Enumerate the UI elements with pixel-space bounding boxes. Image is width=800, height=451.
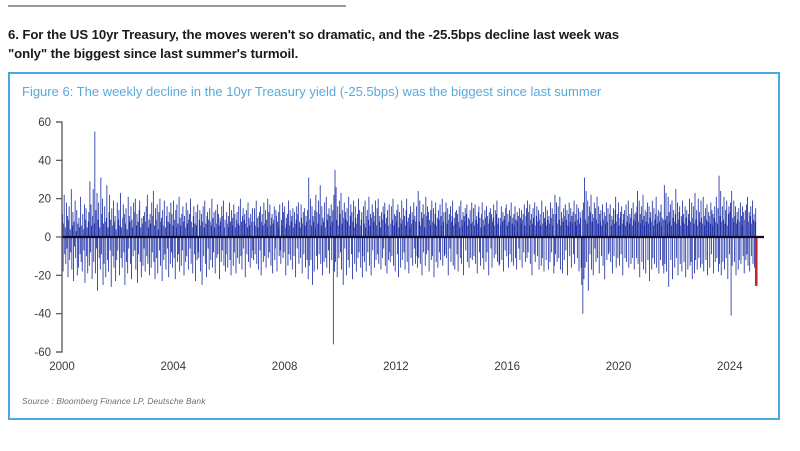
bar [234,237,235,252]
bar [400,237,401,268]
x-axis-tick-label: 2008 [272,361,298,373]
bar [410,206,411,237]
bar [654,237,655,264]
bar [458,237,459,272]
bar [668,237,669,287]
bar [105,222,106,237]
bar [380,227,381,237]
bar [418,237,419,258]
bar [486,237,487,262]
bar [702,237,703,264]
bar [685,237,686,277]
bar [569,237,570,256]
bar [724,237,725,270]
bar [96,237,97,249]
bar [622,224,623,237]
bar [544,237,545,272]
bar [313,222,314,237]
bar [426,237,427,254]
bar [532,237,533,275]
bar [177,237,178,262]
bar [372,237,373,250]
bar [306,222,307,237]
page-headline: 6. For the US 10yr Treasury, the moves w… [8,25,648,63]
bar [195,224,196,237]
bar [619,226,620,238]
bar [80,237,81,254]
bar [388,226,389,238]
bar [152,237,153,252]
bar [516,237,517,270]
bar [527,237,528,258]
y-axis-tick-label: -20 [34,270,51,282]
bar [76,210,77,237]
bar [660,237,661,260]
bar [181,237,182,266]
bar [414,237,415,249]
bar [362,237,363,256]
bar [551,237,552,252]
bar [630,218,631,237]
bar [376,237,377,260]
bar [179,197,180,237]
bar [583,203,584,238]
bar [214,227,215,237]
bar [118,210,119,237]
bar [531,214,532,237]
bar [555,237,556,254]
bar [556,203,557,238]
bar [257,227,258,237]
bar [249,226,250,238]
bar [510,237,511,254]
bar [145,237,146,272]
bar [272,237,273,273]
bar [71,237,72,270]
bar [65,227,66,237]
bar [300,227,301,237]
bar [454,218,455,237]
bar [305,237,306,268]
bar [585,237,586,268]
bar [732,237,733,266]
bar [107,237,108,260]
bar [622,237,623,275]
bar [130,237,131,264]
bar [308,237,309,279]
bar [495,210,496,237]
bar [114,237,115,268]
bar [298,237,299,264]
bar [493,204,494,237]
bar [559,197,560,237]
bar [432,237,433,256]
bar [349,237,350,268]
bar [691,237,692,262]
x-axis-tick-label: 2016 [494,361,520,373]
bar [701,218,702,237]
bar [317,212,318,237]
bar [340,237,341,252]
bar [621,237,622,254]
bar [687,226,688,238]
bar [601,237,602,256]
bar [204,201,205,237]
bar [713,237,714,273]
figure-card: Figure 6: The weekly decline in the 10yr… [8,72,780,420]
bar [740,203,741,238]
bar [482,237,483,258]
bar [666,193,667,237]
bar [188,237,189,270]
bar [290,210,291,237]
bar [497,201,498,237]
bar [120,193,121,237]
bar [137,214,138,237]
bar [73,237,74,281]
bar [581,237,582,285]
bar [248,203,249,238]
bar [139,201,140,237]
bar [134,237,135,250]
bar [156,220,157,237]
bar [108,227,109,237]
bar [206,237,207,277]
bar [351,237,352,254]
bar [335,237,336,262]
bar [367,210,368,237]
bar [591,195,592,237]
bar [626,204,627,237]
bar [678,237,679,275]
bar [160,237,161,266]
bar [400,218,401,237]
bar [268,212,269,237]
bar [93,237,94,262]
bar [111,237,112,287]
bar [461,237,462,264]
bar [391,206,392,237]
bar [480,218,481,237]
bar [679,206,680,237]
bar [425,237,426,266]
bar [131,237,132,279]
bar [474,237,475,256]
bar [340,214,341,237]
bar [258,237,259,270]
bar [153,191,154,237]
bar [397,237,398,254]
bar [687,237,688,270]
bar [611,216,612,237]
bar [636,237,637,258]
bar [220,222,221,237]
bar [475,237,476,264]
bar [731,191,732,237]
bar [668,197,669,237]
x-axis-tick-label: 2004 [161,361,187,373]
bar [645,210,646,237]
bar [534,237,535,254]
bar [416,206,417,237]
bar [443,212,444,237]
bar [126,208,127,237]
bar [227,224,228,237]
bar [326,237,327,268]
bar [344,203,345,238]
bar [707,204,708,237]
bar [117,203,118,238]
bar [471,203,472,238]
bar [137,237,138,283]
bar [321,206,322,237]
bar [412,237,413,266]
bar [753,237,754,264]
bar [691,203,692,238]
bar [292,237,293,270]
bar [430,210,431,237]
y-axis-tick-label: -40 [34,309,51,321]
bar [580,218,581,237]
bar [160,199,161,237]
bar [187,210,188,237]
bar [87,227,88,237]
bar [276,216,277,237]
bar [558,206,559,237]
bar [262,226,263,238]
bar [726,237,727,258]
bar [360,237,361,268]
bar [429,237,430,272]
bar [231,237,232,275]
bar [442,237,443,266]
bar [157,237,158,273]
bar [672,237,673,279]
bar [479,237,480,252]
bar [457,214,458,237]
bar [664,185,665,237]
bar [643,237,644,270]
bar [427,206,428,237]
bar [235,227,236,237]
bar [124,214,125,237]
bar [348,197,349,237]
bar [294,237,295,256]
bar [135,237,136,270]
bar [335,170,336,237]
bar [651,222,652,237]
bar [117,237,118,250]
bar [322,237,323,275]
bar [250,237,251,268]
bar [523,214,524,237]
bar [705,208,706,237]
bar [144,212,145,237]
bar [413,203,414,238]
bar [213,237,214,252]
bar [587,201,588,237]
bar [523,237,524,252]
bar [147,237,148,264]
bar [456,210,457,237]
bar [658,237,659,273]
bar [596,237,597,262]
bar [478,206,479,237]
bar [202,237,203,285]
bar [383,206,384,237]
bar [69,237,70,260]
bar [754,214,755,237]
bar [328,237,329,250]
bar [423,204,424,237]
bar [174,237,175,258]
bar [597,237,598,258]
bar [406,199,407,237]
bar [747,197,748,237]
bar [541,237,542,266]
bar [384,203,385,238]
bar [104,237,105,264]
bar [293,227,294,237]
bar [227,237,228,268]
bar [507,214,508,237]
bar [297,237,298,249]
bar [722,206,723,237]
y-axis-tick-label: 0 [45,232,51,244]
bar [109,195,110,237]
bar [508,237,509,268]
bar [119,237,120,275]
bar [272,214,273,237]
bar [465,237,466,250]
bar [470,210,471,237]
bar [681,237,682,272]
bar [378,199,379,237]
bar [175,237,176,279]
bar [221,237,222,262]
bar [662,237,663,266]
bar [115,237,116,281]
bar [73,212,74,237]
bar [519,237,520,260]
bar [219,226,220,238]
bar [270,226,271,238]
bar [551,218,552,237]
bar [745,210,746,237]
bar [387,237,388,273]
bar [85,237,86,283]
bar [419,201,420,237]
bar [191,237,192,264]
bar [752,201,753,237]
bar [334,237,335,272]
bar [713,214,714,237]
bar [372,204,373,237]
bar [233,237,234,266]
bar [632,237,633,258]
bar [697,237,698,270]
bar [216,224,217,237]
bar [375,201,376,237]
bar [398,237,399,277]
bar [68,237,69,277]
bar [251,222,252,237]
bar [631,237,632,264]
bar [439,237,440,252]
bar [86,237,87,256]
bar [217,204,218,237]
bar [499,237,500,264]
bar [216,237,217,258]
bar [736,237,737,275]
bar [470,237,471,258]
bar [728,206,729,237]
bar [591,237,592,270]
bar [477,237,478,273]
bar [81,237,82,262]
bar [719,237,720,264]
bar [729,237,730,254]
bar [725,210,726,237]
bar [284,237,285,252]
bar [98,203,99,238]
bar [108,237,109,272]
bar [183,222,184,237]
bar [564,237,565,260]
bar [253,237,254,260]
bar [74,222,75,237]
bar [698,237,699,258]
bar [260,237,261,250]
bar [219,237,220,279]
bar [452,201,453,237]
bar [300,237,301,258]
bar [440,204,441,237]
bar [314,237,315,272]
bar [283,237,284,258]
bar [164,237,165,254]
bar [604,237,605,279]
bar [746,204,747,237]
bar [151,203,152,238]
bar [454,237,455,270]
bar [126,237,127,262]
bar [311,237,312,260]
bar [116,237,117,260]
bar [280,237,281,264]
bar [700,237,701,268]
bar [239,237,240,264]
bar [617,237,618,258]
bar [574,201,575,237]
bar [134,212,135,237]
bar [417,237,418,268]
bar [450,206,451,237]
bar [194,237,195,254]
bar [337,237,338,277]
bar [421,212,422,237]
bar [178,224,179,237]
bar [251,237,252,258]
bar [369,237,370,266]
bar [674,222,675,237]
bar [582,237,583,314]
bar [67,237,68,249]
bar [170,237,171,264]
bar [127,229,128,237]
bar [749,237,750,272]
bar [70,237,71,252]
